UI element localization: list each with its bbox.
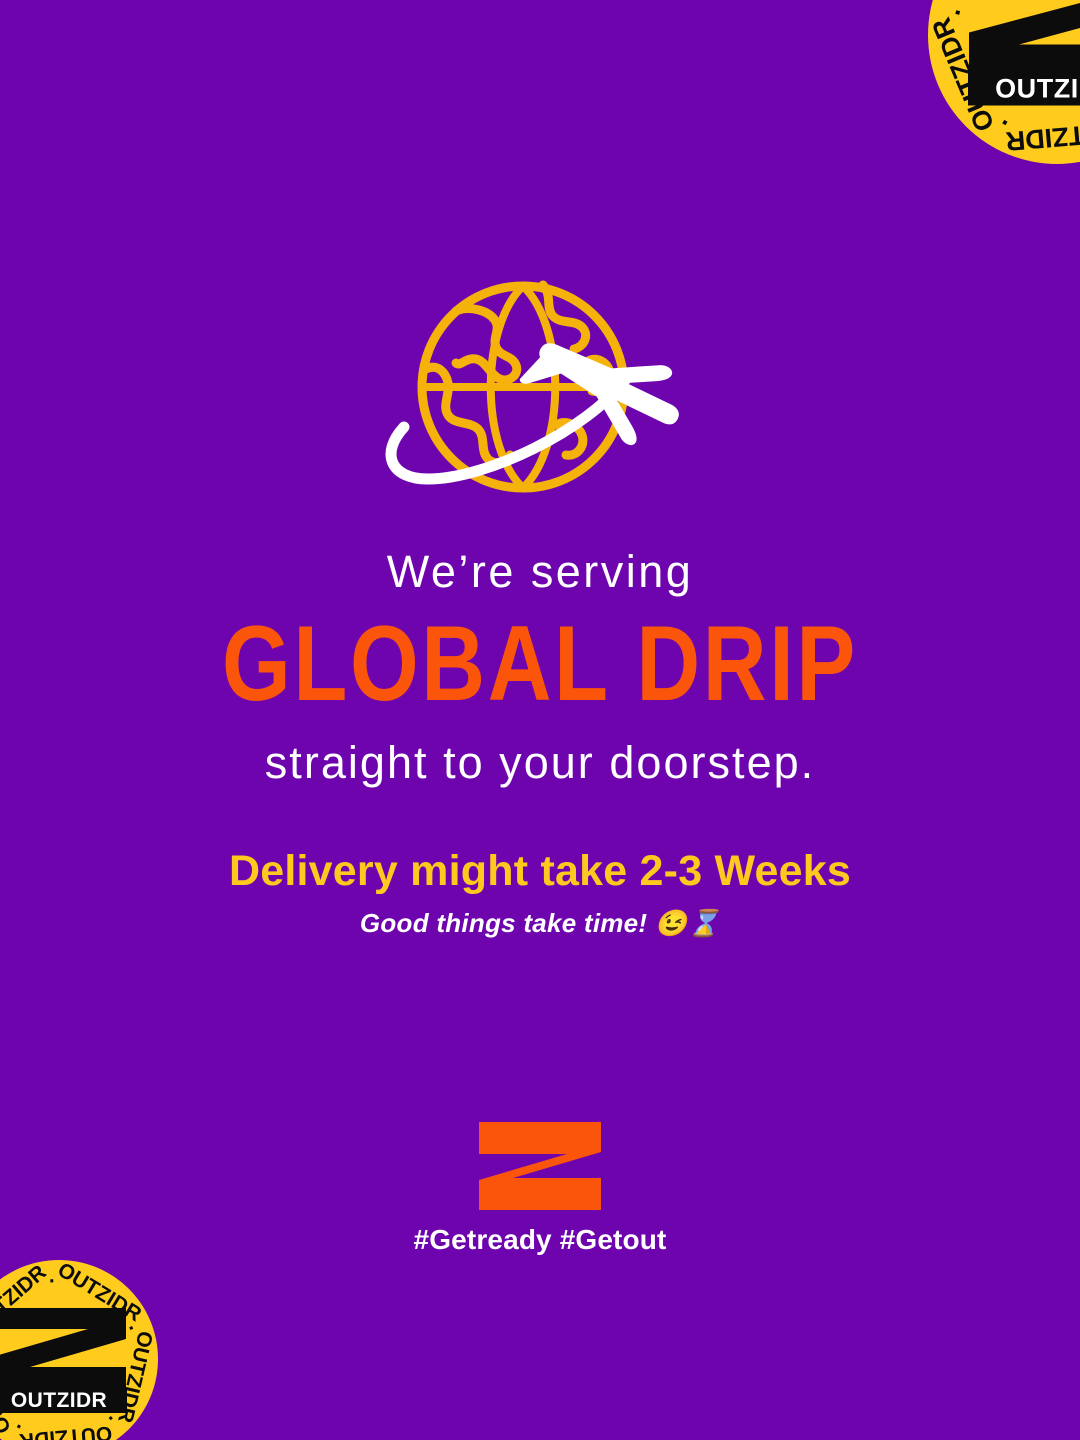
outzidr-sticker-top-right: OUTZIDR·OUTZIDR·OUTZIDR·OUTZIDR·OUTZIDR·…: [928, 0, 1080, 164]
outzidr-z-logo: [0, 1305, 134, 1391]
hashtags-text: #Getready #Getout: [414, 1224, 667, 1256]
sticker-rim-token: OUTZIDR: [18, 1420, 113, 1440]
page-title: GLOBAL DRIP: [22, 607, 1059, 722]
globe-with-airplane-icon: [360, 275, 720, 505]
sticker-center-logo-bottom-left: OUTZIDR: [0, 1305, 134, 1413]
outzidr-sticker-bottom-left: OUTZIDR·OUTZIDR·OUTZIDR·OUTZIDR·OUTZIDR·…: [0, 1260, 158, 1440]
sticker-wordmark-top-right: OUTZIDR: [968, 72, 1080, 106]
footer-brand-block: #Getready #Getout: [0, 1122, 1080, 1256]
outzidr-z-logo: [959, 0, 1080, 77]
sticker-rim-token: OUTZIDR: [1004, 115, 1080, 156]
promo-poster: OUTZIDR·OUTZIDR·OUTZIDR·OUTZIDR·OUTZIDR·…: [0, 0, 1080, 1440]
eyebrow-text: We’re serving: [0, 548, 1080, 595]
delivery-quip: Good things take time! 😉⌛: [0, 909, 1080, 939]
outzidr-z-logo: [479, 1122, 601, 1210]
sticker-wordmark-bottom-left: OUTZIDR: [0, 1387, 127, 1413]
poster-copy-block: We’re serving GLOBAL DRIP straight to yo…: [0, 548, 1080, 939]
delivery-note: Delivery might take 2-3 Weeks: [0, 848, 1080, 895]
subline-text: straight to your doorstep.: [0, 739, 1080, 786]
hero-illustration: [360, 275, 720, 505]
sticker-center-logo-top-right: OUTZIDR: [959, 0, 1080, 106]
